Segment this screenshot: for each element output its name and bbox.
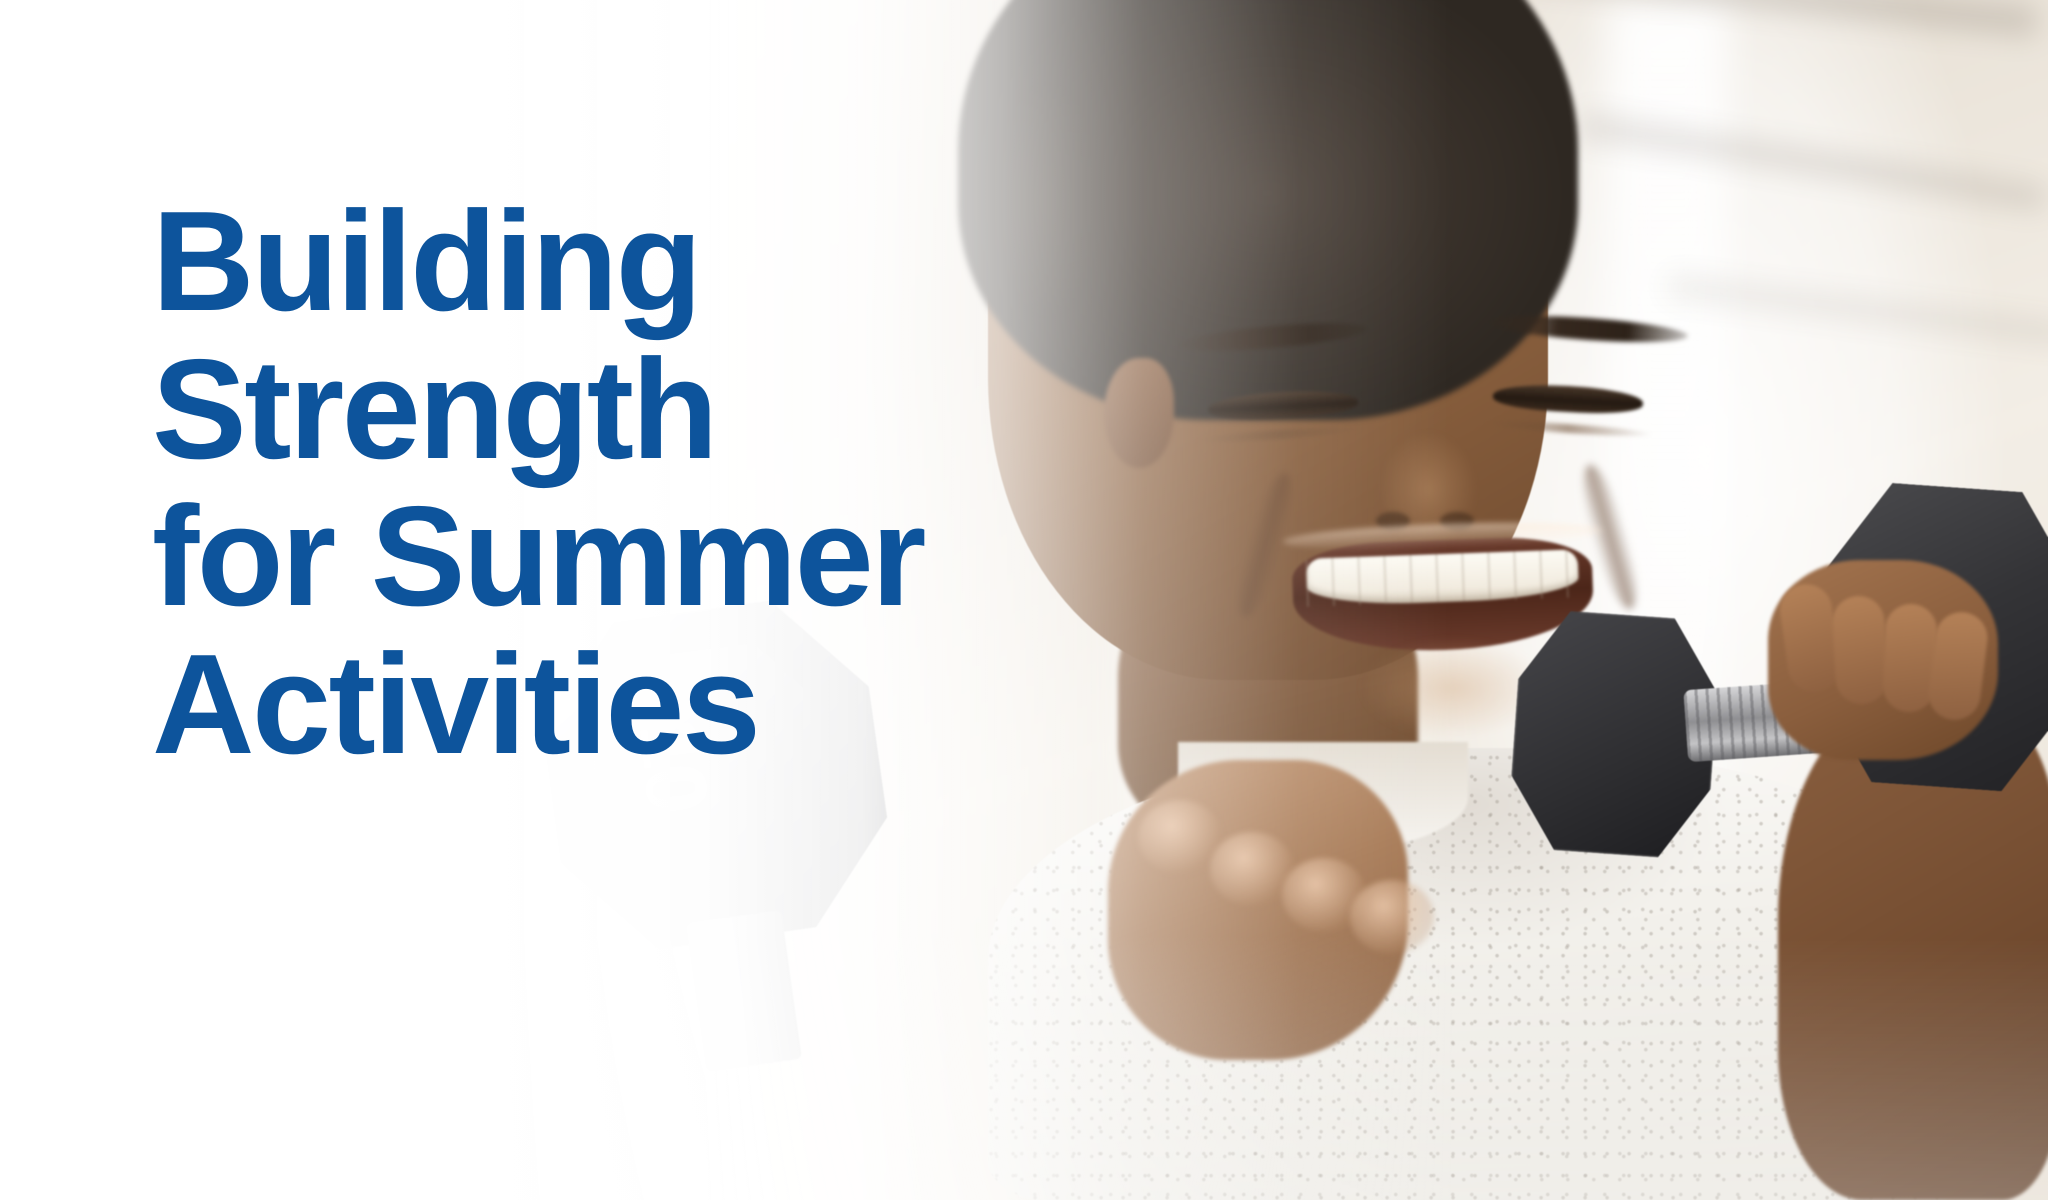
- headline-line-2: Strength: [152, 336, 1052, 484]
- headline-line-1: Building: [152, 188, 1052, 336]
- ear: [1104, 358, 1174, 468]
- headline-line-4: Activities: [152, 631, 1052, 779]
- finger: [1831, 595, 1889, 706]
- page-title: Building Strength for Summer Activities: [152, 188, 1052, 779]
- headline-line-3: for Summer: [152, 483, 1052, 631]
- teeth: [1306, 549, 1580, 606]
- promo-banner: 10 Building Strength for Summer Activiti…: [0, 0, 2048, 1200]
- dumbbell-handle-grey: [686, 910, 802, 1072]
- knuckle: [1138, 800, 1222, 874]
- knuckle: [1350, 880, 1434, 954]
